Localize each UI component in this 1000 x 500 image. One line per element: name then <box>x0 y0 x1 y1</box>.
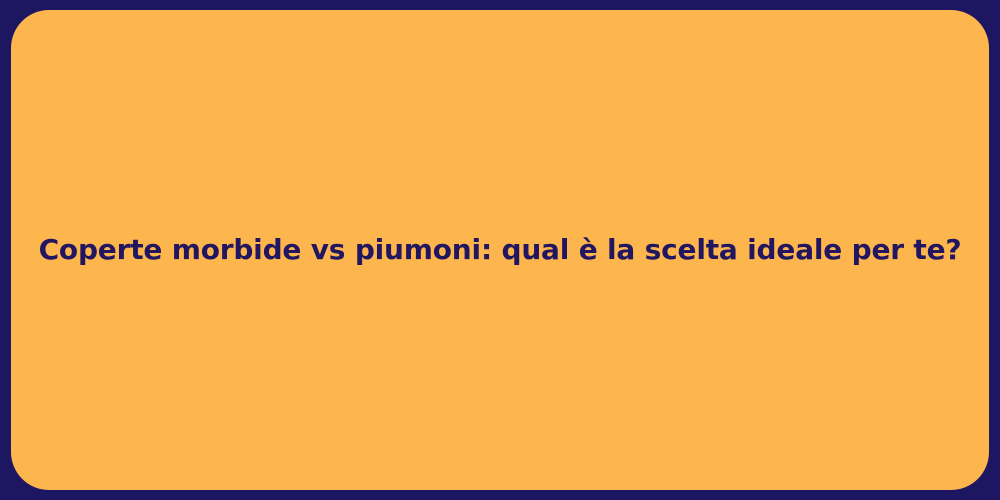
headline-text: Coperte morbide vs piumoni: qual è la sc… <box>15 232 986 268</box>
banner-frame: Coperte morbide vs piumoni: qual è la sc… <box>0 0 1000 500</box>
banner-panel: Coperte morbide vs piumoni: qual è la sc… <box>11 10 989 490</box>
